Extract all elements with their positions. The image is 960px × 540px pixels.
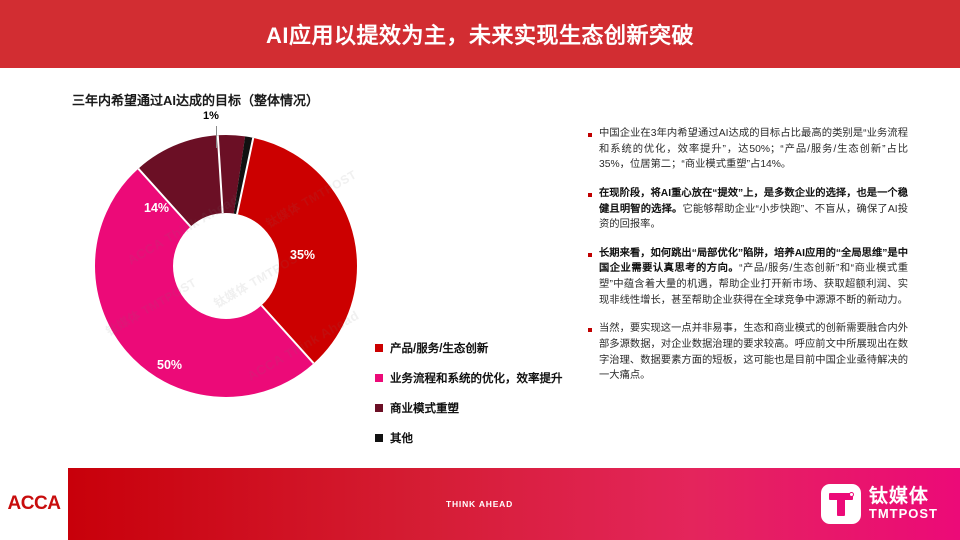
chart-subtitle: 三年内希望通过AI达成的目标（整体情况） (72, 90, 319, 109)
acca-logo-box: ACCA (0, 468, 68, 540)
slide-header: AI应用以提效为主，未来实现生态创新突破 (0, 0, 960, 68)
insight-bullet-4: 当然，要实现这一点并非易事，生态和商业模式的创新需要融合内外部多源数据，对企业数… (588, 321, 908, 384)
insight-bullet-1: 中国企业在3年内希望通过AI达成的目标占比最高的类别是“业务流程和系统的优化，效… (588, 126, 908, 173)
slide-body: 三年内希望通过AI达成的目标（整体情况） ACCA Think Ahead 钛媒… (0, 68, 960, 468)
bullet-square-icon (588, 328, 592, 332)
legend-item-label: 业务流程和系统的优化，效率提升 (390, 370, 563, 386)
legend-item-label: 商业模式重塑 (390, 400, 459, 416)
insight-bullet-3: 长期来看，如何跳出“局部优化”陷阱，培养AI应用的“全局思维”是中国企业需要认真… (588, 246, 908, 309)
legend-item-business-model[interactable]: 商业模式重塑 (375, 400, 625, 416)
legend-swatch-icon (375, 344, 383, 352)
bullet-square-icon (588, 193, 592, 197)
slice-value-black: 1% (203, 110, 219, 122)
bullet-square-icon (588, 133, 592, 137)
footer-gradient-bar: THINK AHEAD 钛媒体 TMTPOST (68, 468, 960, 540)
tmtpost-brand-cn: 钛媒体 (869, 487, 938, 507)
insight-normal-text: 中国企业在3年内希望通过AI达成的目标占比最高的类别是“业务流程和系统的优化，效… (599, 128, 908, 170)
donut-svg (90, 130, 362, 402)
donut-chart: ACCA Think Ahead 钛媒体 TMTPOST ACCA Think … (70, 118, 550, 458)
leader-line (216, 126, 217, 148)
legend-swatch-icon (375, 434, 383, 442)
insights-panel: 中国企业在3年内希望通过AI达成的目标占比最高的类别是“业务流程和系统的优化，效… (588, 126, 908, 397)
legend-item-label: 产品/服务/生态创新 (390, 340, 488, 356)
insight-normal-text: 当然，要实现这一点并非易事，生态和商业模式的创新需要融合内外部多源数据，对企业数… (599, 323, 908, 381)
slide-footer: ACCA THINK AHEAD 钛媒体 TMTPOST (0, 468, 960, 540)
tmtpost-dot-icon (849, 492, 854, 497)
bullet-square-icon (588, 253, 592, 257)
tmtpost-wordmark: 钛媒体 TMTPOST (869, 487, 938, 521)
legend-item-other[interactable]: 其他 (375, 430, 625, 446)
acca-logo: ACCA (8, 493, 61, 515)
insight-text: 长期来看，如何跳出“局部优化”陷阱，培养AI应用的“全局思维”是中国企业需要认真… (599, 246, 908, 309)
tmtpost-logo: 钛媒体 TMTPOST (821, 484, 938, 524)
donut-graphic: ACCA Think Ahead 钛媒体 TMTPOST ACCA Think … (90, 130, 362, 402)
insight-text: 中国企业在3年内希望通过AI达成的目标占比最高的类别是“业务流程和系统的优化，效… (599, 126, 908, 173)
footer-tagline: THINK AHEAD (446, 499, 513, 509)
tmtpost-mark-icon (821, 484, 861, 524)
insight-bullet-2: 在现阶段，将AI重心放在“提效”上，是多数企业的选择，也是一个稳健且明智的选择。… (588, 186, 908, 233)
legend-item-label: 其他 (390, 430, 413, 446)
insight-text: 在现阶段，将AI重心放在“提效”上，是多数企业的选择，也是一个稳健且明智的选择。… (599, 186, 908, 233)
page-title: AI应用以提效为主，未来实现生态创新突破 (266, 18, 694, 50)
legend-swatch-icon (375, 374, 383, 382)
legend-swatch-icon (375, 404, 383, 412)
tmtpost-brand-en: TMTPOST (869, 507, 938, 521)
insight-text: 当然，要实现这一点并非易事，生态和商业模式的创新需要融合内外部多源数据，对企业数… (599, 321, 908, 384)
